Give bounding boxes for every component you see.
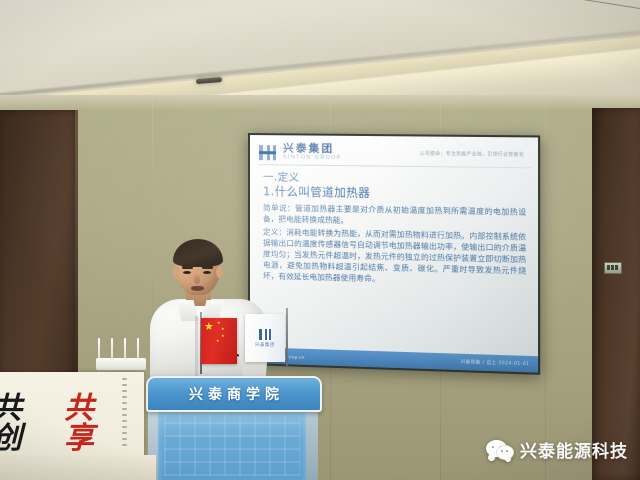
wall-switch-plate[interactable] — [604, 262, 622, 274]
flag-pole-company — [286, 308, 288, 366]
calligraphy-black: 共创 — [0, 394, 50, 454]
sinton-group-logo-mark — [259, 145, 276, 160]
slide-footer-note: 兴泰热能 / 自上 2024-01-01 — [461, 359, 530, 367]
flag-star-small: ★ — [217, 321, 221, 325]
company-flag-logo-mark — [259, 329, 271, 340]
flag-star-small: ★ — [221, 334, 225, 338]
wechat-watermark: 兴泰能源科技 — [486, 437, 628, 462]
presentation-photo: 兴泰集团 SINTON GROUP 公司使命：专注热能产业链，引领行业智能化 一… — [0, 0, 640, 480]
nose — [194, 275, 200, 284]
slide-tagline: 公司使命：专注热能产业链，引领行业智能化 — [420, 151, 529, 158]
flag-china: ★ ★ ★ ★ ★ — [201, 318, 237, 364]
company-flag-label: 兴泰集团 — [255, 342, 275, 348]
podium-sign-text: 兴泰商学院 — [184, 384, 284, 404]
wechat-icon — [486, 440, 514, 460]
brand-name-cn: 兴泰集团 — [283, 144, 342, 155]
podium-front-panel — [158, 410, 306, 480]
flag-company: 兴泰集团 — [245, 314, 285, 362]
slide-body: 一.定义 1.什么叫管道加热器 简单说：管道加热器主要是对介质从初始温度加热到所… — [250, 165, 538, 356]
eye-right — [203, 271, 211, 274]
flag-star-large: ★ — [204, 322, 214, 333]
podium-sign: 兴泰商学院 — [146, 376, 322, 412]
eye-left — [183, 271, 191, 274]
mouth — [191, 286, 204, 291]
front-desk — [0, 455, 156, 480]
wechat-account-name: 兴泰能源科技 — [520, 437, 628, 462]
ear-left — [173, 266, 180, 278]
hair — [173, 239, 223, 267]
slide-header: 兴泰集团 SINTON GROUP 公司使命：专注热能产业链，引领行业智能化 — [250, 135, 538, 168]
wireless-router — [96, 358, 146, 370]
slide-paragraph-2: 定义：消耗电能转换为热能，从而对需加热物料进行加热。内部控制系统依据输出口的温度… — [263, 227, 526, 289]
podium-side-right — [306, 410, 318, 480]
ear-right — [216, 266, 223, 278]
podium: 兴泰商学院 — [132, 360, 332, 480]
podium-pattern — [164, 414, 300, 476]
wall-top-highlight — [0, 95, 640, 111]
slide-paragraph-1: 简单说：管道加热器主要是对介质从初始温度加热到所需温度的电加热设备，把电能转换成… — [263, 203, 526, 230]
calligraphy-red: 共享 — [64, 394, 122, 454]
slide-heading-2: 1.什么叫管道加热器 — [263, 184, 526, 204]
flag-star-small: ★ — [216, 339, 220, 343]
slide-brand: 兴泰集团 SINTON GROUP — [283, 144, 342, 162]
flag-star-small: ★ — [221, 327, 225, 331]
brand-name-en: SINTON GROUP — [283, 156, 342, 162]
wall-panel-seam — [545, 95, 546, 480]
wood-wall-panel-left — [0, 110, 78, 395]
calligraphy-text: 共创 共享 — [0, 394, 122, 454]
projection-screen: 兴泰集团 SINTON GROUP 公司使命：专注热能产业链，引领行业智能化 一… — [248, 133, 540, 375]
wood-wall-panel-right — [592, 108, 640, 480]
presentation-slide: 兴泰集团 SINTON GROUP 公司使命：专注热能产业链，引领行业智能化 一… — [250, 135, 538, 373]
